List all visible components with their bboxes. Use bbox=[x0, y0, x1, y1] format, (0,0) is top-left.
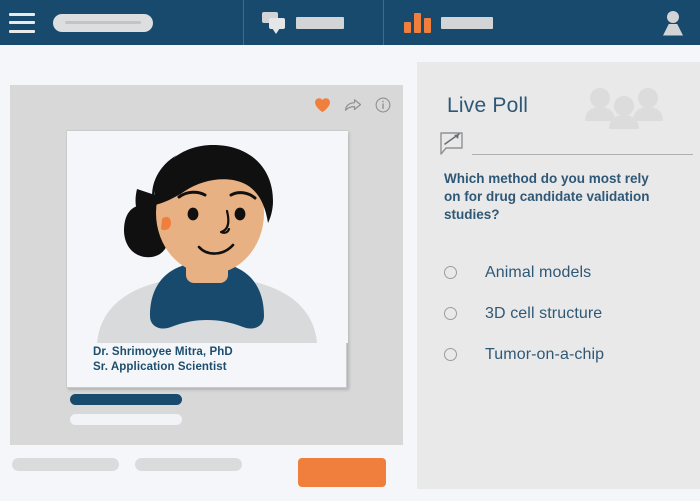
hamburger-line bbox=[9, 30, 35, 33]
bar-chart-poll-icon bbox=[404, 13, 431, 33]
footer-placeholder-2[interactable] bbox=[135, 458, 242, 471]
footer-placeholder-1[interactable] bbox=[12, 458, 119, 471]
chat-tab-label-placeholder bbox=[296, 17, 344, 29]
poll-title: Live Poll bbox=[447, 94, 528, 118]
nav-section-brand bbox=[0, 0, 243, 45]
session-title-placeholder bbox=[70, 394, 182, 405]
brand-placeholder[interactable] bbox=[53, 14, 153, 32]
video-preview-frame[interactable]: Dr. Shrimoyee Mitra, PhD Sr. Application… bbox=[66, 130, 347, 388]
avatar-body bbox=[663, 24, 683, 36]
speaker-info: Dr. Shrimoyee Mitra, PhD Sr. Application… bbox=[93, 345, 233, 376]
live-poll-panel: Live Poll Which method do you most rely … bbox=[417, 62, 700, 489]
share-arrow-icon[interactable] bbox=[344, 97, 362, 113]
poll-question: Which method do you most rely on for dru… bbox=[444, 170, 666, 225]
poll-option-label: 3D cell structure bbox=[485, 305, 602, 323]
poll-options-list: Animal models 3D cell structure Tumor-on… bbox=[444, 252, 694, 375]
poll-option-3d-cell-structure[interactable]: 3D cell structure bbox=[444, 293, 694, 334]
group-of-people-icon bbox=[583, 88, 665, 130]
brand-placeholder-line bbox=[65, 21, 141, 24]
poll-option-label: Animal models bbox=[485, 264, 591, 282]
nav-section-account bbox=[563, 0, 700, 45]
speech-flag-icon bbox=[439, 130, 465, 156]
poll-tab-label-placeholder bbox=[441, 17, 493, 29]
primary-cta-button[interactable] bbox=[298, 458, 386, 487]
user-avatar-icon[interactable] bbox=[662, 11, 684, 35]
hamburger-menu-icon[interactable] bbox=[9, 13, 35, 33]
nav-tab-poll[interactable] bbox=[383, 0, 563, 45]
poll-divider bbox=[472, 154, 693, 155]
radio-button[interactable] bbox=[444, 307, 457, 320]
radio-button[interactable] bbox=[444, 266, 457, 279]
speaker-portrait-illustration bbox=[67, 131, 348, 343]
heart-icon[interactable] bbox=[314, 97, 331, 113]
radio-button[interactable] bbox=[444, 348, 457, 361]
avatar-head bbox=[667, 11, 679, 23]
nav-tab-chat[interactable] bbox=[243, 0, 383, 45]
poll-option-tumor-on-a-chip[interactable]: Tumor-on-a-chip bbox=[444, 334, 694, 375]
poll-bar-2 bbox=[414, 13, 421, 33]
chat-bubbles-icon bbox=[262, 12, 286, 33]
presentation-card: Dr. Shrimoyee Mitra, PhD Sr. Application… bbox=[10, 85, 403, 445]
top-navigation-bar bbox=[0, 0, 700, 45]
poll-bar-1 bbox=[404, 22, 411, 33]
poll-option-animal-models[interactable]: Animal models bbox=[444, 252, 694, 293]
hamburger-line bbox=[9, 21, 35, 24]
speaker-name: Dr. Shrimoyee Mitra, PhD bbox=[93, 345, 233, 360]
hamburger-line bbox=[9, 13, 35, 16]
webinar-page: Dr. Shrimoyee Mitra, PhD Sr. Application… bbox=[0, 0, 700, 501]
speaker-title: Sr. Application Scientist bbox=[93, 360, 233, 375]
info-circle-icon[interactable] bbox=[375, 97, 391, 113]
session-subtitle-placeholder bbox=[70, 414, 182, 425]
card-action-bar bbox=[314, 97, 391, 113]
poll-option-label: Tumor-on-a-chip bbox=[485, 346, 604, 364]
chat-bubble-tail bbox=[272, 28, 280, 34]
poll-bar-3 bbox=[424, 18, 431, 33]
